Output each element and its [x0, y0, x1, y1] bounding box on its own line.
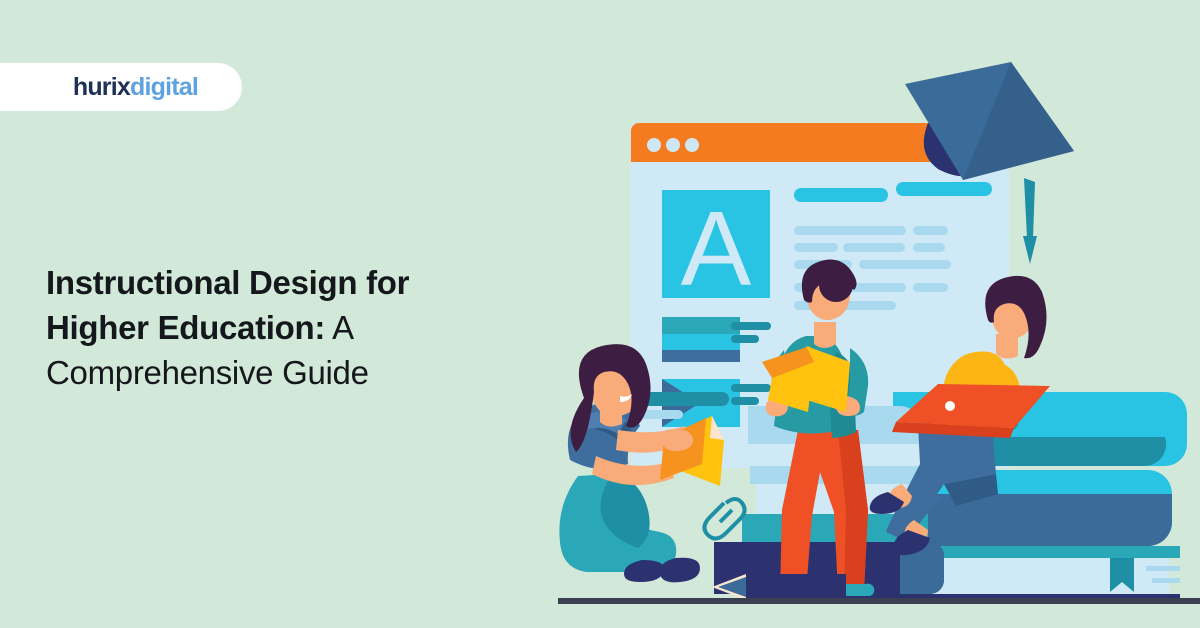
brand-logo[interactable]: hurixdigital [0, 63, 242, 111]
graduation-cap-tassel-cord [1024, 178, 1035, 238]
brand-logo-text: hurixdigital [73, 75, 198, 100]
content-thumbnail-1 [662, 317, 740, 362]
content-thumbnail-1-line-1 [731, 322, 771, 330]
laptop-logo-icon [945, 401, 955, 411]
brand-logo-primary: hurix [73, 73, 130, 101]
pencil-body [746, 574, 846, 600]
paperclip-icon [704, 499, 744, 539]
book-r4-line-1 [1146, 566, 1180, 571]
content-thumbnail-2-line-2 [731, 397, 759, 405]
ground-line [558, 598, 1200, 604]
standing-hair-bun [819, 268, 853, 302]
page-title: Instructional Design for Higher Educatio… [46, 260, 516, 395]
seated-hand-on-book [662, 429, 693, 451]
content-heading-bar-2 [896, 182, 992, 196]
brand-logo-secondary: digital [130, 73, 198, 101]
page-title-bold: Instructional Design for Higher Educatio… [46, 264, 409, 346]
book-r4-line-2 [1152, 578, 1180, 583]
content-heading-bar-1 [794, 188, 888, 202]
browser-dot-2-icon [666, 138, 680, 152]
letter-a-glyph: A [681, 190, 752, 308]
content-thumbnail-2-line-1 [731, 384, 771, 392]
standing-neck [814, 322, 836, 348]
graduation-cap-tassel [1023, 236, 1037, 264]
browser-dot-3-icon [685, 138, 699, 152]
browser-dot-1-icon [647, 138, 661, 152]
content-thumbnail-1-line-2 [731, 335, 759, 343]
banner: A [0, 0, 1200, 628]
